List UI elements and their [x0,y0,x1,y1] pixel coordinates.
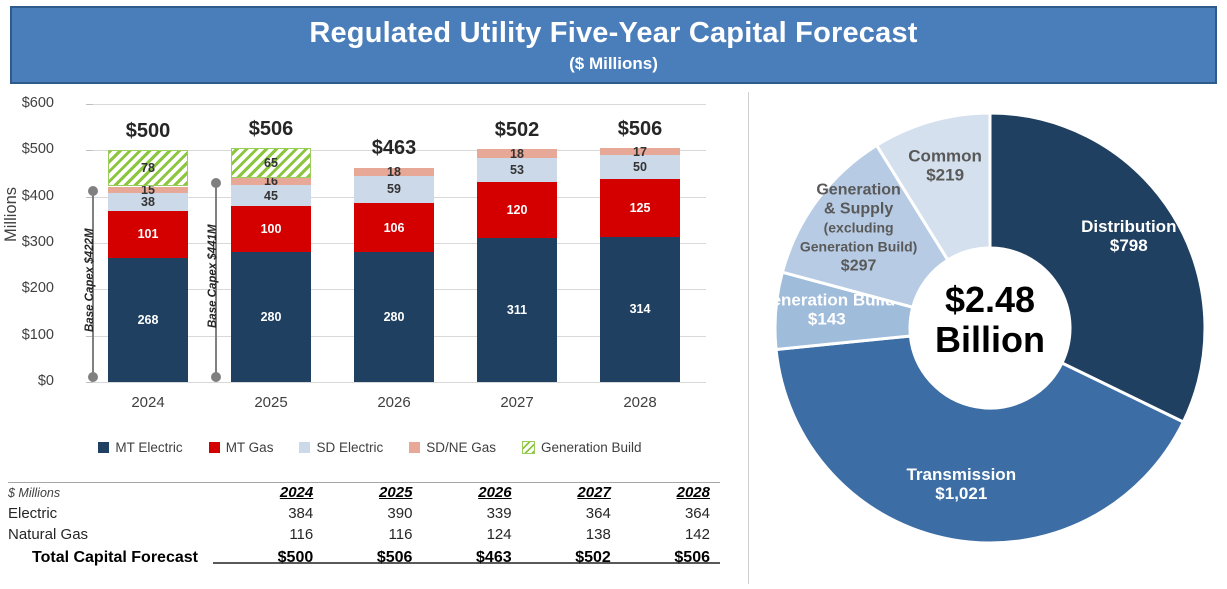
legend-swatch-icon [522,441,535,454]
y-tick-label: $500 [0,141,54,157]
table-cell: 124 [422,524,521,545]
bracket-dot-bottom [88,372,98,382]
bar-segment[interactable]: 314 [600,237,680,382]
x-axis-label: 2026 [354,394,434,411]
table-row: Natural Gas116116124138142 [8,524,720,545]
legend-item[interactable]: MT Gas [209,440,274,455]
table-total-cell: $506 [621,545,720,569]
table-unit-label: $ Millions [8,482,224,503]
table-col-header: 2026 [422,482,521,503]
y-tick-mark [86,150,93,151]
bar-segment[interactable]: 311 [477,238,557,382]
x-axis-label: 2024 [108,394,188,411]
table-row: Electric384390339364364 [8,503,720,524]
bar-segment[interactable]: 125 [600,179,680,237]
table-total-cell: $502 [522,545,621,569]
page-subtitle: ($ Millions) [569,55,658,72]
table-row-label: Natural Gas [8,524,224,545]
donut-center-amount: $2.48 [900,280,1080,320]
base-capex-bracket: Base Capex $422M [86,186,100,382]
bar-segment[interactable]: 120 [477,182,557,238]
stacked-bar-chart: Millions $0$100$200$300$400$500$60026810… [0,92,740,437]
bar-segment[interactable]: 17 [600,148,680,156]
bar-plot-area: $0$100$200$300$400$500$600268101381578$5… [93,104,706,382]
legend-label: Generation Build [541,440,642,455]
donut-slice[interactable] [990,113,1205,422]
legend-label: SD Electric [316,440,383,455]
bar-total-label: $506 [231,118,311,141]
bar-column[interactable]: 268101381578 [108,104,188,382]
y-tick-label: $600 [0,95,54,111]
legend-swatch-icon [299,442,310,453]
legend-label: SD/NE Gas [426,440,496,455]
table-cell: 138 [522,524,621,545]
bar-segment[interactable]: 280 [354,252,434,382]
table-row-label: Electric [8,503,224,524]
bar-segment[interactable]: 78 [108,150,188,186]
table-total-row: Total Capital Forecast$500$506$463$502$5… [8,545,720,569]
bar-segment[interactable]: 268 [108,258,188,382]
table-cell: 339 [422,503,521,524]
y-tick-label: $100 [0,327,54,343]
chart-legend: MT ElectricMT GasSD ElectricSD/NE GasGen… [0,440,740,455]
y-tick-mark [86,382,93,383]
bar-segment[interactable]: 65 [231,148,311,178]
bar-segment[interactable]: 15 [108,187,188,194]
table-total-cell: $506 [323,545,422,569]
x-axis-label: 2025 [231,394,311,411]
legend-swatch-icon [409,442,420,453]
bracket-dot-top [88,186,98,196]
table-col-header: 2027 [522,482,621,503]
y-tick-mark [86,104,93,105]
bar-segment[interactable]: 18 [477,149,557,157]
base-capex-label: Base Capex $441M [207,224,219,328]
base-capex-label: Base Capex $422M [84,229,96,333]
table-cell: 364 [621,503,720,524]
donut-center-label: $2.48Billion [900,280,1080,361]
gridline [93,382,706,383]
panel-divider [748,92,749,584]
legend-label: MT Gas [226,440,274,455]
header-banner: Regulated Utility Five-Year Capital Fore… [10,6,1217,84]
table-cell: 390 [323,503,422,524]
table-col-header: 2025 [323,482,422,503]
bar-total-label: $502 [477,119,557,142]
y-tick-label: $0 [0,373,54,389]
y-tick-label: $400 [0,188,54,204]
bar-segment[interactable]: 101 [108,211,188,258]
table-cell: 142 [621,524,720,545]
legend-item[interactable]: Generation Build [522,440,642,455]
bar-total-label: $506 [600,118,680,141]
bar-column[interactable]: 3141255017 [600,104,680,382]
donut-center-unit: Billion [900,320,1080,360]
legend-swatch-icon [98,442,109,453]
table-cell: 116 [224,524,323,545]
bar-column[interactable]: 280100451665 [231,104,311,382]
bar-segment[interactable]: 100 [231,206,311,252]
bracket-dot-top [211,178,221,188]
legend-item[interactable]: SD Electric [299,440,383,455]
bar-segment[interactable]: 18 [354,168,434,176]
table-cell: 384 [224,503,323,524]
page-title: Regulated Utility Five-Year Capital Fore… [309,18,917,50]
table-total-label: Total Capital Forecast [8,545,224,569]
bar-segment[interactable]: 50 [600,155,680,178]
capital-forecast-table: $ Millions20242025202620272028Electric38… [8,482,720,569]
donut-chart: Distribution$798Transmission$1,021Genera… [750,92,1227,589]
base-capex-bracket: Base Capex $441M [209,178,223,382]
bar-segment[interactable]: 16 [231,178,311,185]
table-col-header: 2028 [621,482,720,503]
table-cell: 116 [323,524,422,545]
y-tick-label: $300 [0,234,54,250]
bar-segment[interactable]: 106 [354,203,434,252]
table-header-row: $ Millions20242025202620272028 [8,482,720,503]
x-axis-label: 2028 [600,394,680,411]
legend-item[interactable]: MT Electric [98,440,182,455]
table-total-cell: $463 [422,545,521,569]
legend-swatch-icon [209,442,220,453]
table-cell: 364 [522,503,621,524]
legend-label: MT Electric [115,440,182,455]
bar-total-label: $463 [354,137,434,160]
bracket-dot-bottom [211,372,221,382]
bar-segment[interactable]: 53 [477,158,557,183]
bar-segment[interactable]: 280 [231,252,311,382]
bar-segment[interactable]: 59 [354,176,434,203]
table-total-cell: $500 [224,545,323,569]
legend-item[interactable]: SD/NE Gas [409,440,496,455]
table-col-header: 2024 [224,482,323,503]
bar-total-label: $500 [108,120,188,143]
x-axis-label: 2027 [477,394,557,411]
bar-column[interactable]: 3111205318 [477,104,557,382]
y-tick-label: $200 [0,280,54,296]
